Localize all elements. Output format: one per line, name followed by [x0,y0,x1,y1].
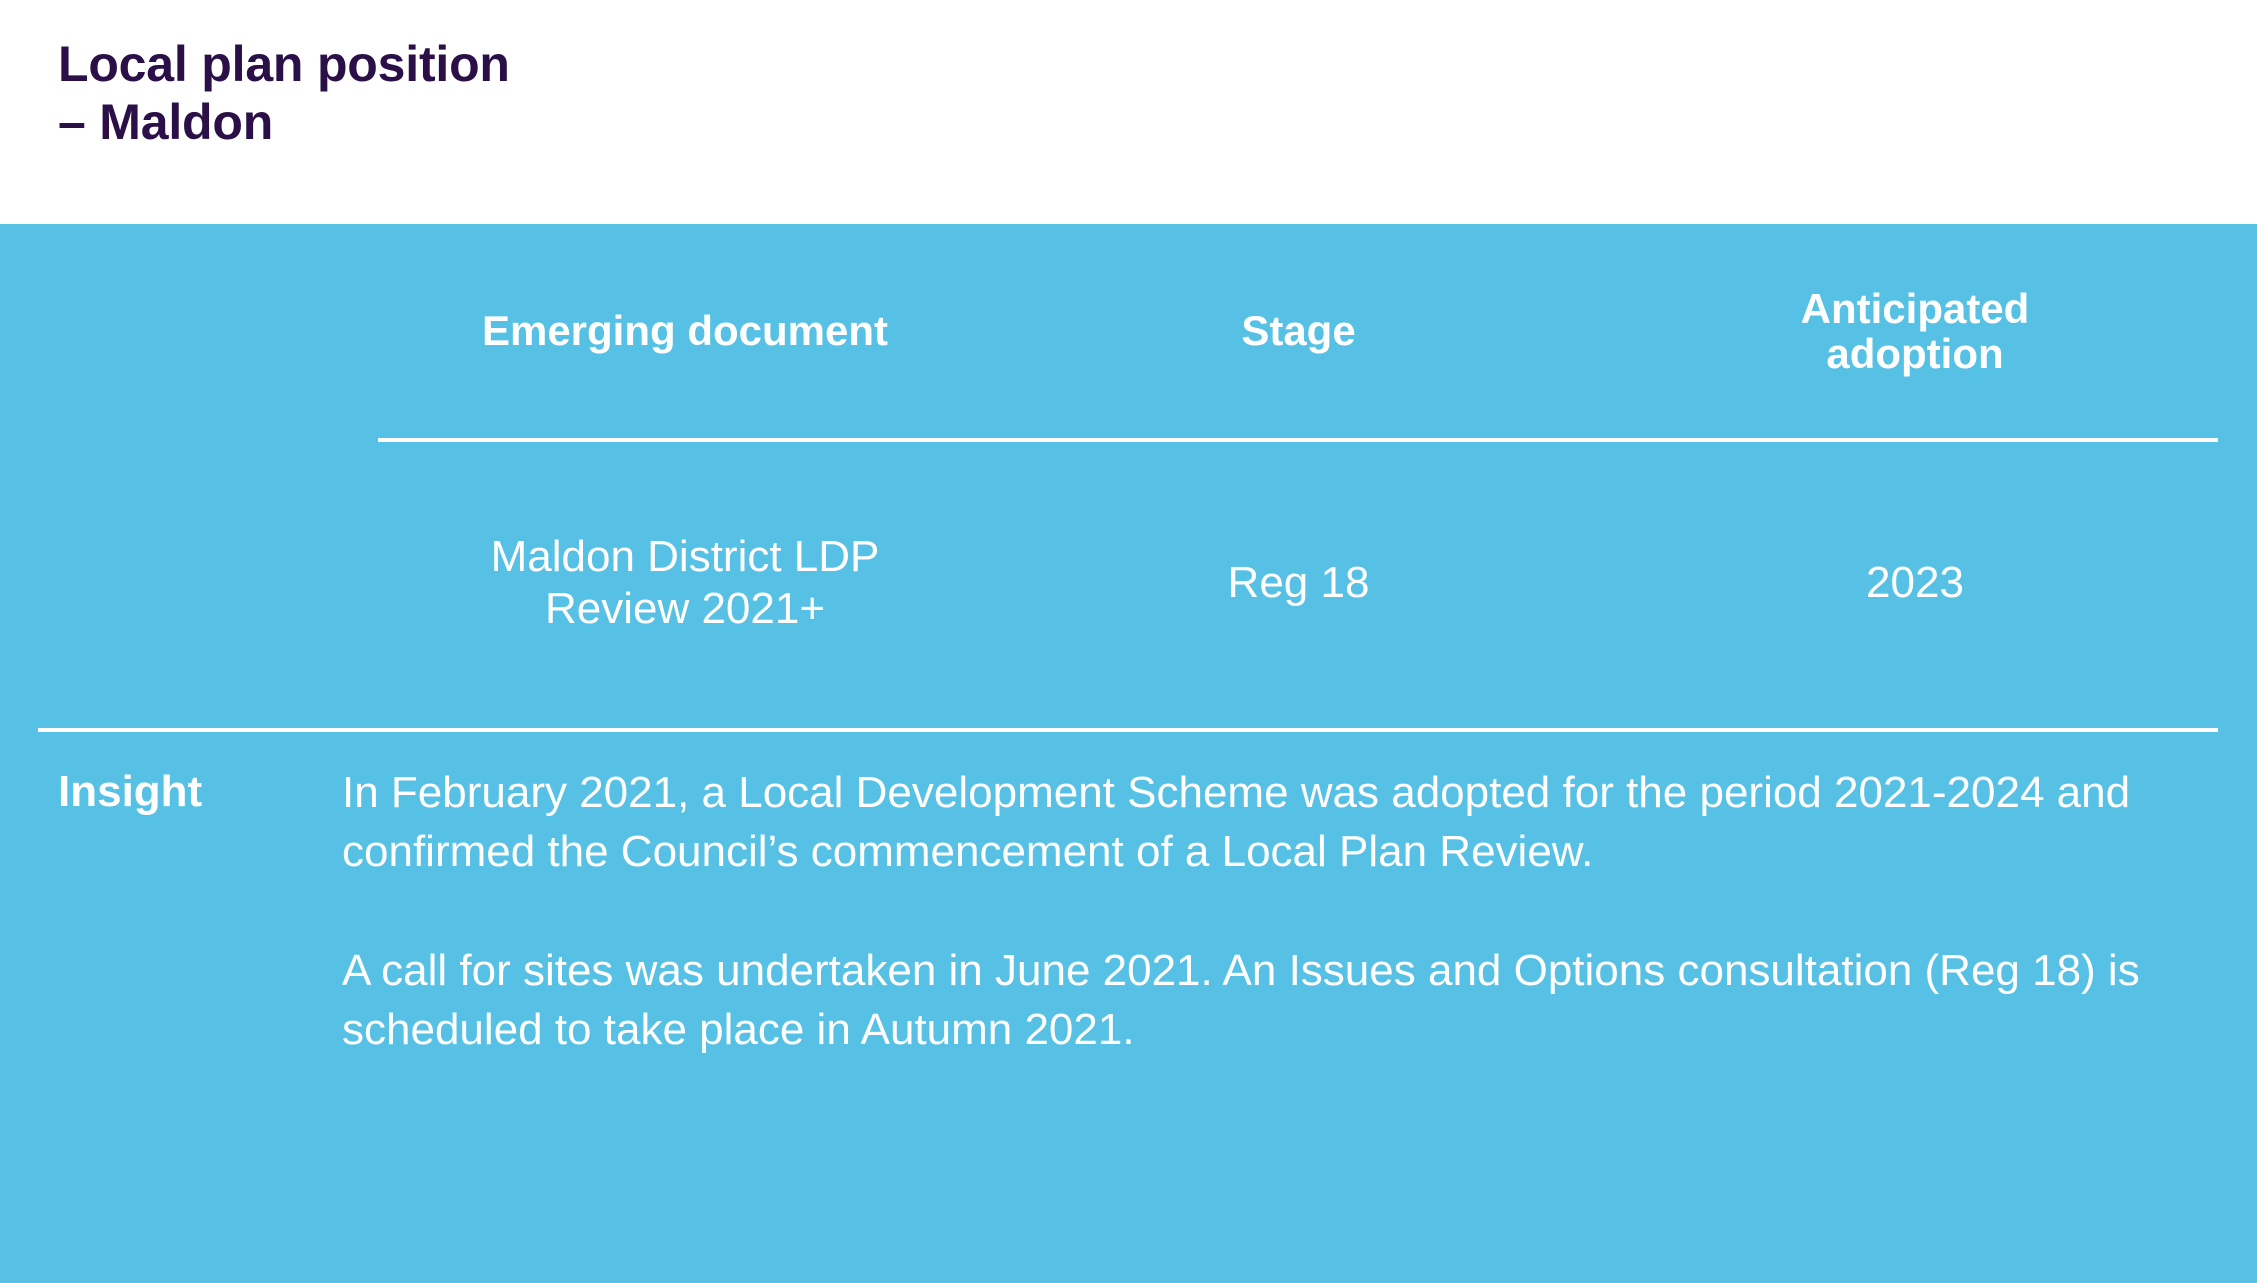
table-header-row: Emerging document Stage Anticipated adop… [0,224,2257,438]
table-row: Maldon District LDP Review 2021+ Reg 18 … [0,438,2257,728]
table-cell-stage: Reg 18 [992,557,1605,609]
insight-section: Insight In February 2021, a Local Develo… [0,764,2257,1060]
page-title: Local plan position – Maldon [58,36,510,151]
title-band: Local plan position – Maldon [0,0,2257,224]
insight-body: In February 2021, a Local Development Sc… [342,764,2212,1060]
table-header-stage: Stage [992,308,1605,353]
table-cell-anticipated-adoption: 2023 [1605,557,2225,609]
local-plan-table: Emerging document Stage Anticipated adop… [0,224,2257,728]
insight-paragraph-1: In February 2021, a Local Development Sc… [342,764,2152,882]
table-header-emerging-document: Emerging document [378,308,992,353]
content-panel: Emerging document Stage Anticipated adop… [0,224,2257,1283]
table-header-anticipated-adoption: Anticipated adoption [1605,286,2225,377]
insight-label: Insight [0,764,342,816]
slide-root: Local plan position – Maldon Emerging do… [0,0,2257,1283]
insight-divider-rule [38,728,2218,732]
insight-paragraph-2: A call for sites was undertaken in June … [342,942,2152,1060]
table-cell-emerging-document: Maldon District LDP Review 2021+ [378,531,992,635]
